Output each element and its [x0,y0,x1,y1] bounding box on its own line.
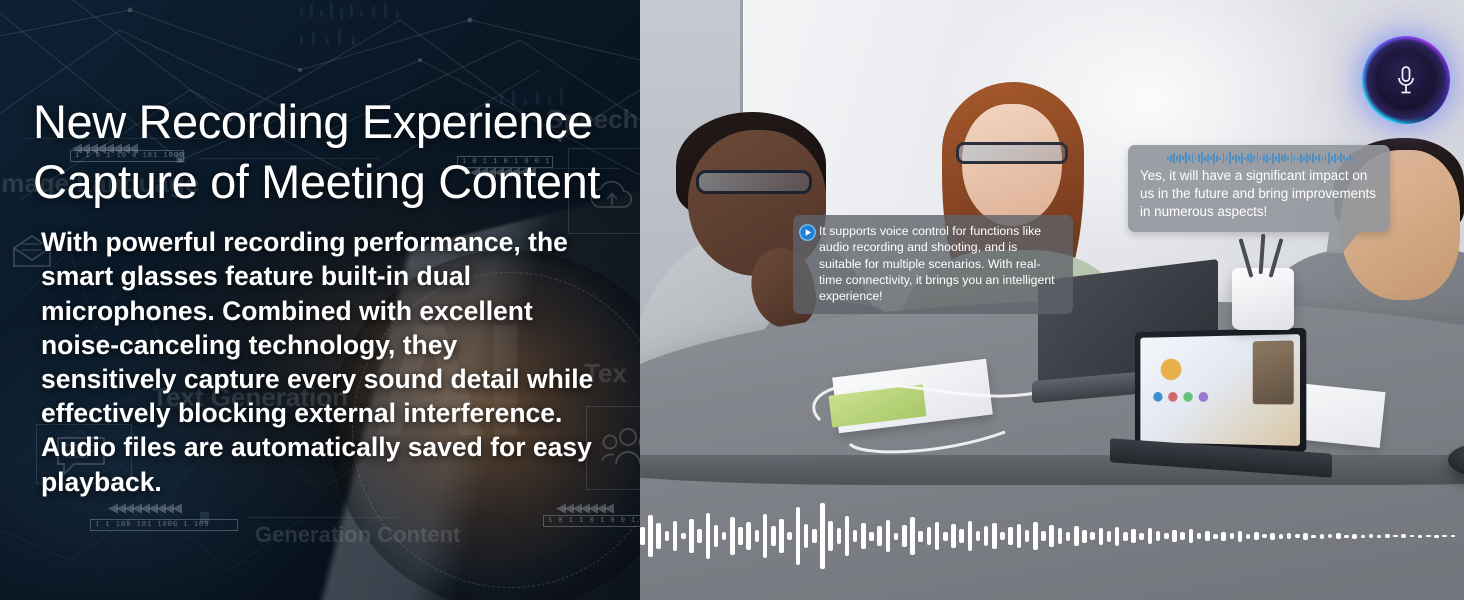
waveform-bar [1090,532,1095,540]
waveform-bar [714,525,719,547]
waveform-bar [1139,533,1144,540]
waveform-bar [1257,152,1259,164]
waveform-bar [1148,528,1153,544]
chevron-arrows-bottom-left: ◀◀◀◀◀◀◀◀◀ [108,500,180,516]
waveform-bar [1058,528,1063,544]
ghost-line-track-bottom [247,517,397,518]
waveform-bar [1328,534,1333,538]
waveform-bar [673,521,678,551]
waveform-bar [1232,156,1234,160]
waveform-bar [755,530,760,542]
waveform-bar [697,529,702,543]
body-description: With powerful recording performance, the… [41,225,600,498]
meeting-room-photo: It supports voice control for functions … [640,0,1464,600]
speech-bubble-left-text: It supports voice control for functions … [819,224,1055,303]
waveform-bar [1300,154,1302,163]
waveform-bar [1182,156,1184,160]
video-call-interface [1140,334,1300,446]
waveform-bar [1253,155,1255,161]
waveform-bar [1278,153,1280,163]
waveform-bar [1270,533,1275,540]
waveform-bar [1025,530,1030,542]
waveform-bar [1297,157,1299,160]
code-chip-4: 1 0 1 1 0 1 0 0 1 1 1 0 0 1 1 [543,515,640,527]
waveform-bar [1235,154,1237,163]
waveform-bar [1303,533,1308,540]
waveform-bar [1156,531,1161,541]
page-headline: New Recording Experience Capture of Meet… [33,92,600,212]
waveform-bar [894,533,899,540]
waveform-bar [1344,535,1349,538]
waveform-bar [1205,531,1210,541]
waveform-bar [1210,156,1212,160]
waveform-bar [1451,535,1456,537]
waveform-bar [1189,529,1194,543]
person-mid-smart-glasses [956,142,1068,164]
waveform-bar [984,526,989,546]
waveform-bar [689,519,694,553]
code-chip-3: 1 1 100 101 1000 1 100 [90,519,238,531]
waveform-bar [935,522,940,550]
waveform-bar [1426,535,1431,537]
waveform-bar [640,527,645,545]
headline-line-1: New Recording Experience [33,95,593,148]
waveform-bar [1318,154,1320,162]
waveform-bar [1219,157,1221,160]
waveform-bar [1238,531,1243,542]
waveform-bar [1349,154,1351,162]
waveform-bar [861,523,866,549]
waveform-bar [1115,527,1120,546]
waveform-bar [706,513,711,559]
waveform-bar [1017,524,1022,548]
waveform-bar [804,524,809,548]
voice-assistant-badge[interactable] [1362,36,1450,124]
waveform-bar [828,521,833,551]
call-control-2-icon [1168,392,1177,402]
voice-assistant-badge-inner [1376,50,1436,110]
waveform-bar [1066,532,1071,541]
waveform-bar [1164,533,1169,539]
waveform-bar [1201,152,1203,164]
left-text-block: New Recording Experience Capture of Meet… [0,0,600,499]
waveform-bar [918,531,923,542]
waveform-bar [763,514,768,558]
waveform-bar [1188,155,1190,161]
speech-bubble-right: Yes, it will have a significant impact o… [1128,145,1390,232]
waveform-bar [648,515,653,557]
waveform-bar [1082,530,1087,543]
waveform-bar [1207,154,1209,163]
waveform-bar [959,529,964,543]
waveform-bar [820,503,825,569]
waveform-bar [992,523,997,549]
waveform-bar [1173,153,1175,164]
waveform-bar [1336,533,1341,539]
waveform-bar [1195,157,1197,160]
waveform-bar [665,531,670,541]
waveform-bar [796,507,801,565]
waveform-bar [853,530,858,542]
waveform-bar [869,532,874,541]
waveform-bar [1226,155,1228,161]
laptop-right-screen[interactable] [1135,328,1306,453]
waveform-bar [1287,533,1292,539]
play-circle-icon[interactable] [799,224,816,241]
waveform-bar [746,522,751,550]
waveform-bar [1312,153,1314,163]
waveform-bar [1346,157,1348,160]
waveform-bar [1216,155,1218,162]
video-call-participant-tile [1253,340,1294,404]
product-banner: AI Speech Image Language Text Generation… [0,0,1464,600]
audio-waveform-main [640,500,1455,572]
waveform-bar [1295,534,1300,538]
waveform-bar [1401,534,1406,538]
waveform-bar [1322,157,1324,160]
waveform-bar [1442,535,1447,537]
waveform-bar [1204,156,1206,161]
waveform-bar [812,529,817,543]
waveform-bar [1284,154,1286,162]
audio-waveform-mini [1140,151,1378,165]
call-avatar-icon [1161,358,1182,380]
waveform-bar [1279,534,1284,539]
chevron-arrows-bottom-right: ◀◀◀◀◀◀◀ [556,500,612,516]
waveform-bar [1320,534,1325,539]
waveform-bar [1049,525,1054,547]
waveform-bar [1223,153,1225,163]
person-mid-face [962,104,1062,226]
waveform-bar [1343,155,1345,161]
waveform-bar [1180,532,1185,540]
waveform-bar [1410,535,1415,537]
waveform-bar [943,532,948,541]
waveform-bar [1377,535,1382,538]
waveform-bar [1266,154,1268,163]
waveform-bar [1260,156,1262,160]
waveform-bar [877,526,882,546]
waveform-bar [1131,529,1136,543]
waveform-bar [1250,153,1252,163]
waveform-bar [730,517,735,555]
waveform-bar [910,517,915,555]
waveform-bar [845,516,850,556]
waveform-bar [1306,153,1308,164]
waveform-bar [1287,156,1289,160]
waveform-bar [1230,533,1235,539]
waveform-bar [1246,534,1251,539]
waveform-bar [1167,157,1169,160]
waveform-bar [1170,155,1172,162]
waveform-bar [1337,156,1339,160]
waveform-bar [779,519,784,553]
left-info-panel: AI Speech Image Language Text Generation… [0,0,640,600]
waveform-bar [1294,155,1296,162]
waveform-bar [738,527,743,545]
waveform-bar [1434,535,1439,538]
waveform-bar [1198,154,1200,162]
waveform-bar [1334,154,1336,163]
waveform-bar [1172,530,1177,542]
waveform-bar [722,532,727,540]
waveform-bar [787,532,792,540]
call-control-3-icon [1183,392,1193,402]
waveform-bar [1352,534,1357,539]
waveform-bar [1272,153,1274,164]
waveform-bar [1107,531,1112,542]
waveform-bar [1262,534,1267,538]
ghost-label-generation-content: Generation Content [255,522,460,548]
waveform-bar [1099,528,1104,545]
waveform-bar [927,527,932,545]
waveform-bar [1291,152,1293,164]
waveform-bar [1275,156,1277,161]
waveform-bar [1176,156,1178,161]
waveform-bar [1303,156,1305,161]
waveform-bar [951,524,956,548]
waveform-bar [902,525,907,547]
waveform-bar [1192,153,1194,163]
waveform-bar [1254,532,1259,540]
waveform-bar [1309,155,1311,161]
waveform-bar [1123,532,1128,541]
waveform-bar [771,526,776,546]
waveform-bar [656,523,661,549]
waveform-bar [976,531,981,541]
waveform-bar [837,528,842,544]
call-control-1-icon [1153,392,1162,402]
waveform-bar [1241,153,1243,164]
waveform-bar [1331,156,1333,161]
headline-line-2: Capture of Meeting Content [33,155,600,208]
waveform-bar [1247,154,1249,162]
waveform-bar [1269,157,1271,160]
waveform-bar [1244,157,1246,160]
speech-bubble-right-text: Yes, it will have a significant impact o… [1140,168,1376,219]
waveform-bar [1361,535,1366,538]
waveform-bar [1325,155,1327,162]
waveform-bar [886,520,891,552]
waveform-bar [1418,535,1423,538]
waveform-bar [1263,155,1265,162]
waveform-bar [1385,534,1390,538]
waveform-bar [1033,522,1038,550]
speech-bubble-left: It supports voice control for functions … [793,215,1073,314]
waveform-bar [1000,532,1005,540]
waveform-bar [1229,152,1231,164]
waveform-bar [968,521,973,551]
waveform-bar [1213,153,1215,164]
group-people-icon [602,424,640,468]
waveform-bar [1238,156,1240,161]
waveform-bar [1315,156,1317,160]
waveform-bar [1311,535,1316,538]
pen-holder [1232,268,1294,330]
waveform-bar [1008,527,1013,545]
waveform-bar [1393,535,1398,537]
waveform-bar [1328,152,1330,164]
waveform-bar [1185,152,1187,164]
waveform-bar [1074,526,1079,546]
call-control-4-icon [1199,392,1209,402]
waveform-bar [1221,532,1226,541]
waveform-bar [1041,531,1046,541]
waveform-bar [1340,153,1342,163]
microphone-icon [1395,65,1417,95]
waveform-bar [1369,534,1374,538]
waveform-bar [1213,534,1218,539]
person-left-smart-glasses [696,170,812,194]
waveform-bar [1179,154,1181,163]
waveform-bar [1281,155,1283,161]
waveform-bar [681,533,686,539]
waveform-bar [1197,533,1202,539]
